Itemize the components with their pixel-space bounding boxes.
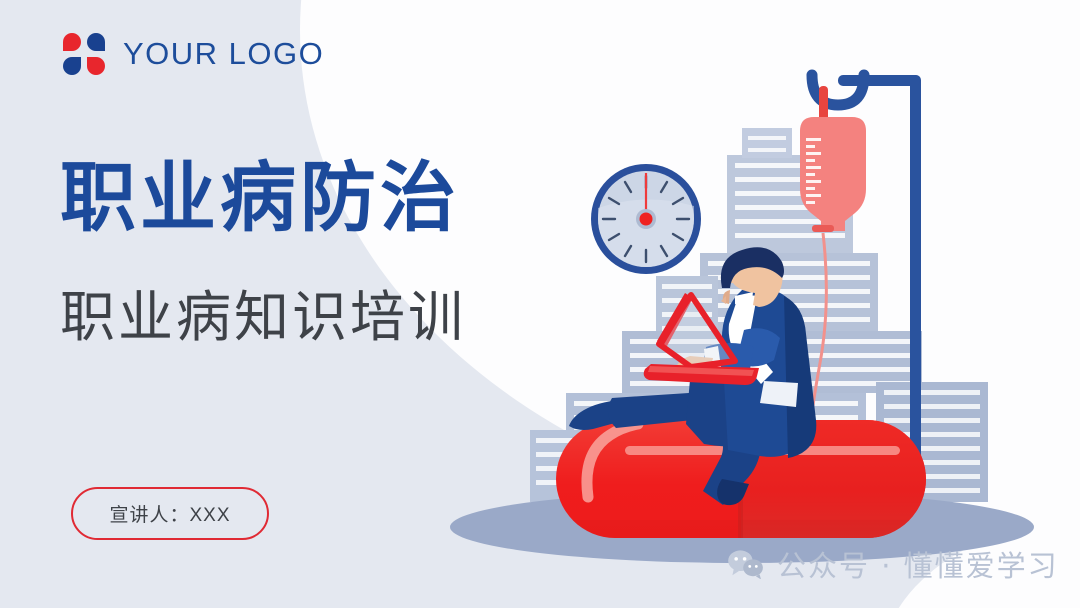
watermark: 公众号 · 懂懂爱学习 <box>727 543 1059 585</box>
logo-petal-top-left <box>63 33 81 51</box>
logo-petal-bottom-left <box>63 57 81 75</box>
wall-clock-icon <box>591 164 701 274</box>
logo[interactable]: YOUR LOGO <box>63 33 324 75</box>
presentation-slide: YOUR LOGO 职业病防治 职业病知识培训 宣讲人：XXX 公众号 · 懂懂… <box>0 0 1080 608</box>
logo-petal-bottom-right <box>87 57 105 75</box>
watermark-text: 公众号 · 懂懂爱学习 <box>777 543 1059 585</box>
logo-text: YOUR LOGO <box>123 36 324 72</box>
main-title: 职业病防治 <box>60 158 460 238</box>
wechat-icon <box>727 549 765 579</box>
subtitle: 职业病知识培训 <box>60 287 466 348</box>
logo-mark-icon <box>63 33 105 75</box>
speaker-badge[interactable]: 宣讲人：XXX <box>71 487 269 540</box>
logo-petal-top-right <box>87 33 105 51</box>
